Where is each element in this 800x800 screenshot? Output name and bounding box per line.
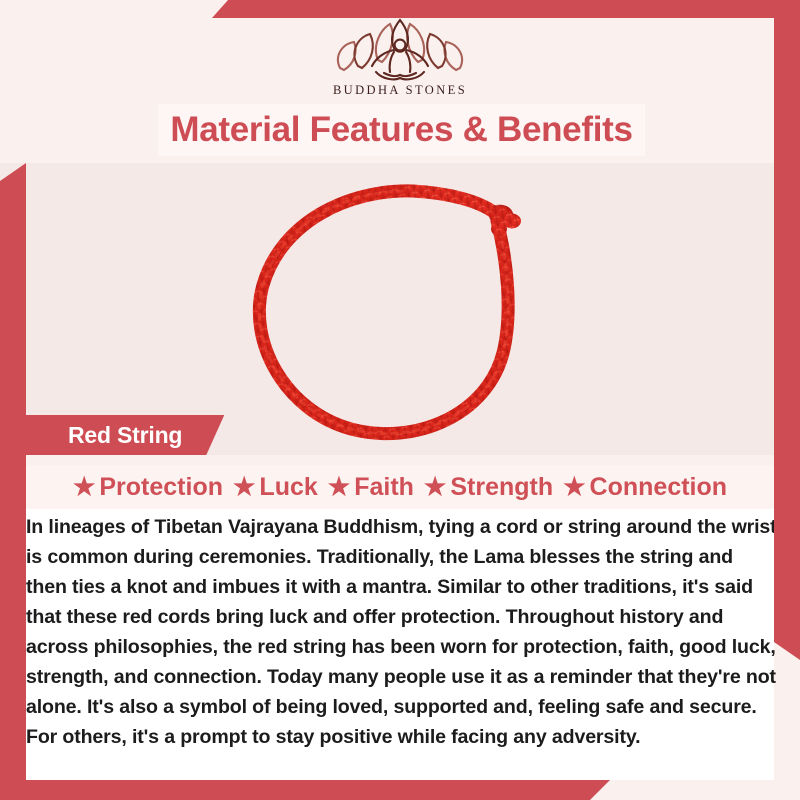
description-text: In lineages of Tibetan Vajrayana Buddhis… xyxy=(26,512,778,752)
product-name-label: Red String xyxy=(68,422,182,449)
benefit-label: Strength xyxy=(450,473,553,502)
title-band: Material Features & Benefits xyxy=(158,104,645,156)
benefit-label: Connection xyxy=(590,473,728,502)
brand-name: BUDDHA STONES xyxy=(0,83,800,98)
frame-accent-left xyxy=(0,163,26,800)
benefit-item-connection: ★ Connection xyxy=(563,473,727,502)
bracelet-knot xyxy=(489,205,521,236)
product-name-ribbon: Red String xyxy=(18,415,224,455)
star-icon: ★ xyxy=(233,475,255,500)
frame-accent-bottom xyxy=(0,780,610,800)
benefits-row: ★ Protection ★ Luck ★ Faith ★ Strength ★… xyxy=(26,465,774,509)
brand-logo: BUDDHA STONES xyxy=(0,16,800,98)
poster-canvas: BUDDHA STONES Material Features & Benefi… xyxy=(0,0,800,800)
product-photo xyxy=(0,163,800,455)
lotus-meditation-figure-icon xyxy=(332,16,468,82)
star-icon: ★ xyxy=(328,475,350,500)
star-icon: ★ xyxy=(424,475,446,500)
frame-accent-right xyxy=(774,0,800,660)
benefit-label: Protection xyxy=(99,473,223,502)
benefit-item-faith: ★ Faith xyxy=(328,473,414,502)
benefit-label: Faith xyxy=(354,473,414,502)
page-title: Material Features & Benefits xyxy=(170,110,632,150)
benefit-label: Luck xyxy=(259,473,317,502)
star-icon: ★ xyxy=(563,475,585,500)
benefit-item-strength: ★ Strength xyxy=(424,473,553,502)
red-string-bracelet-image xyxy=(235,163,565,455)
benefit-item-protection: ★ Protection xyxy=(73,473,223,502)
star-icon: ★ xyxy=(73,475,95,500)
benefit-item-luck: ★ Luck xyxy=(233,473,318,502)
